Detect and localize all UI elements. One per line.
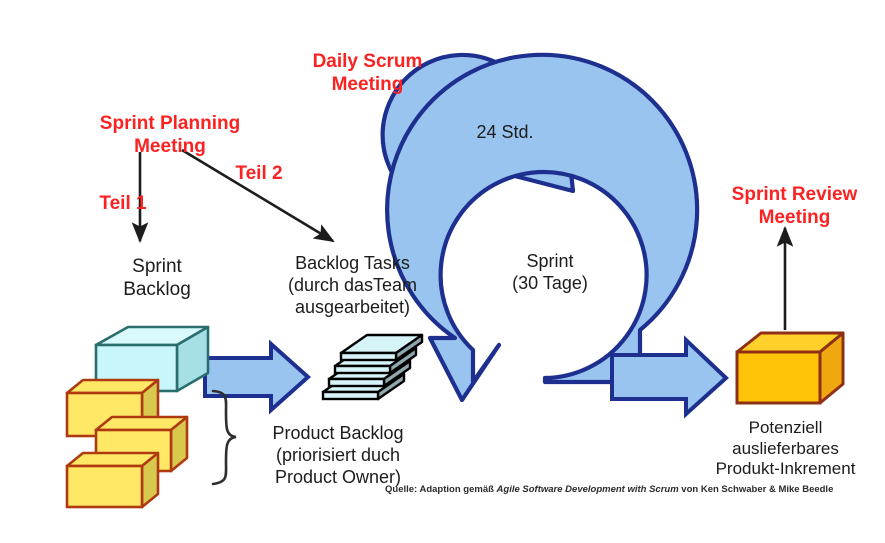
label-teil-1: Teil 1: [88, 192, 158, 215]
product-backlog-box-3: [67, 453, 158, 507]
product-backlog-boxes: [67, 380, 187, 507]
label-sprint-planning-meeting: Sprint Planning Meeting: [62, 112, 278, 158]
source-work-title: Agile Software Development with Scrum: [497, 484, 679, 495]
label-backlog-tasks: Backlog Tasks (durch dasTeam ausgearbeit…: [245, 253, 460, 319]
label-24-std: 24 Std.: [440, 122, 570, 144]
backlog-tasks-paper-stack: [323, 335, 422, 399]
input-block-arrow: [205, 344, 308, 410]
label-teil-2: Teil 2: [218, 162, 300, 185]
label-potential-increment: Potenziell auslieferbares Produkt-Inkrem…: [688, 418, 883, 480]
sprint-circular-arrow: [387, 55, 697, 400]
label-sprint-review-meeting: Sprint Review Meeting: [712, 183, 877, 229]
source-citation: Quelle: Adaption gemäß Agile Software De…: [385, 484, 855, 495]
source-suffix: von Ken Schwaber & Mike Beedle: [679, 484, 834, 495]
product-increment-box: [737, 333, 843, 403]
label-sprint-backlog: Sprint Backlog: [92, 255, 222, 301]
source-prefix: Quelle: Adaption gemäß: [385, 484, 497, 495]
scrum-diagram: Sprint Planning Meeting Teil 1 Teil 2 Da…: [0, 0, 885, 543]
label-daily-scrum-meeting: Daily Scrum Meeting: [275, 50, 460, 96]
label-sprint-duration: Sprint (30 Tage): [475, 251, 625, 295]
label-product-backlog: Product Backlog (priorisiert duch Produc…: [233, 423, 443, 489]
